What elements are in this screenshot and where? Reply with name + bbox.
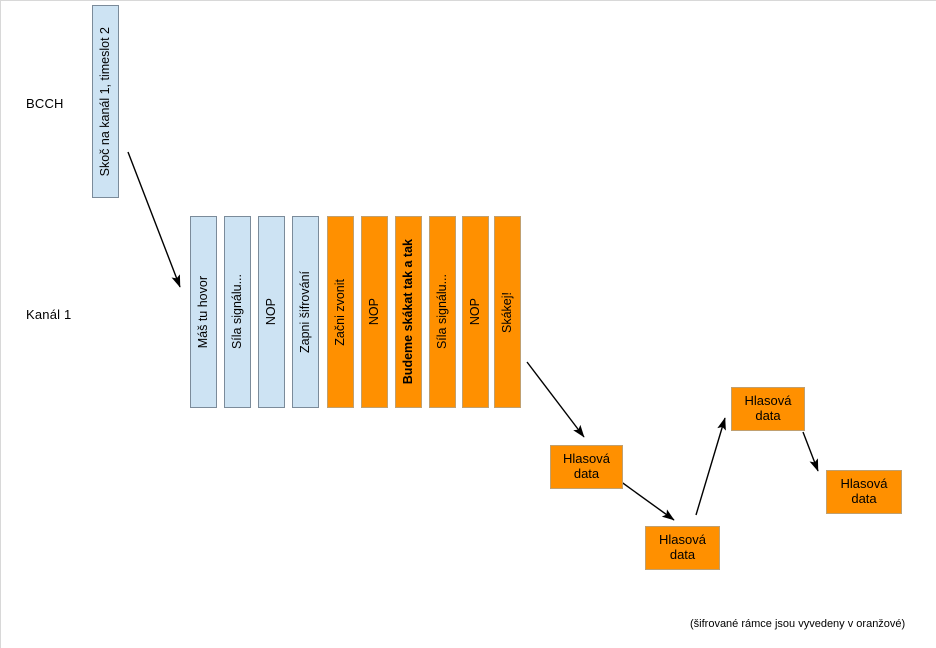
voice-data-box-4[interactable]: Hlasová data xyxy=(826,470,902,514)
arrow-bcch-to-channel1 xyxy=(128,152,180,287)
row-label-channel1: Kanál 1 xyxy=(26,307,72,322)
frame-sila-signalu-2[interactable]: Síla signálu... xyxy=(429,216,456,408)
frame-label: Máš tu hovor xyxy=(197,276,210,348)
frame-label: Síla signálu... xyxy=(231,274,244,349)
voice-data-line2: data xyxy=(851,492,876,507)
frame-nop-3[interactable]: NOP xyxy=(462,216,489,408)
voice-data-box-1[interactable]: Hlasová data xyxy=(550,445,623,489)
frame-label: Začni zvonit xyxy=(334,279,347,346)
legend-note: (šifrované rámce jsou vyvedeny v oranžov… xyxy=(690,618,905,630)
frame-label: Skákej! xyxy=(501,292,514,333)
frame-zapni-sifrovani[interactable]: Zapni šifrování xyxy=(292,216,319,408)
frame-label: Budeme skákat tak a tak xyxy=(402,239,415,384)
voice-data-line2: data xyxy=(574,467,599,482)
voice-data-line1: Hlasová xyxy=(659,533,706,548)
frame-mas-tu-hovor[interactable]: Máš tu hovor xyxy=(190,216,217,408)
frame-skakej[interactable]: Skákej! xyxy=(494,216,521,408)
frame-nop-1[interactable]: NOP xyxy=(258,216,285,408)
frame-bcch-hop-command[interactable]: Skoč na kanál 1, timeslot 2 xyxy=(92,5,119,198)
voice-data-line2: data xyxy=(755,409,780,424)
row-label-bcch: BCCH xyxy=(26,96,64,111)
arrow-voice2-to-voice3 xyxy=(696,418,725,515)
voice-data-line1: Hlasová xyxy=(745,394,792,409)
frame-label: Skoč na kanál 1, timeslot 2 xyxy=(99,27,112,176)
frame-sila-signalu-1[interactable]: Síla signálu... xyxy=(224,216,251,408)
frame-label: Zapni šifrování xyxy=(299,271,312,353)
frame-label: Síla signálu... xyxy=(436,274,449,349)
voice-data-line1: Hlasová xyxy=(841,477,888,492)
frame-nop-2[interactable]: NOP xyxy=(361,216,388,408)
diagram-canvas: BCCH Kanál 1 Skoč na kanál 1, timeslot 2… xyxy=(0,0,936,648)
voice-data-line1: Hlasová xyxy=(563,452,610,467)
frame-budeme-skakat-tak-a-tak[interactable]: Budeme skákat tak a tak xyxy=(395,216,422,408)
frame-label: NOP xyxy=(469,298,482,325)
frame-label: NOP xyxy=(368,298,381,325)
arrow-voice1-to-voice2 xyxy=(620,481,674,520)
frame-label: NOP xyxy=(265,298,278,325)
arrow-lastframe-to-voice1 xyxy=(527,362,584,437)
voice-data-box-2[interactable]: Hlasová data xyxy=(645,526,720,570)
arrow-voice3-to-voice4 xyxy=(803,432,818,471)
frame-zacni-zvonit[interactable]: Začni zvonit xyxy=(327,216,354,408)
voice-data-box-3[interactable]: Hlasová data xyxy=(731,387,805,431)
voice-data-line2: data xyxy=(670,548,695,563)
